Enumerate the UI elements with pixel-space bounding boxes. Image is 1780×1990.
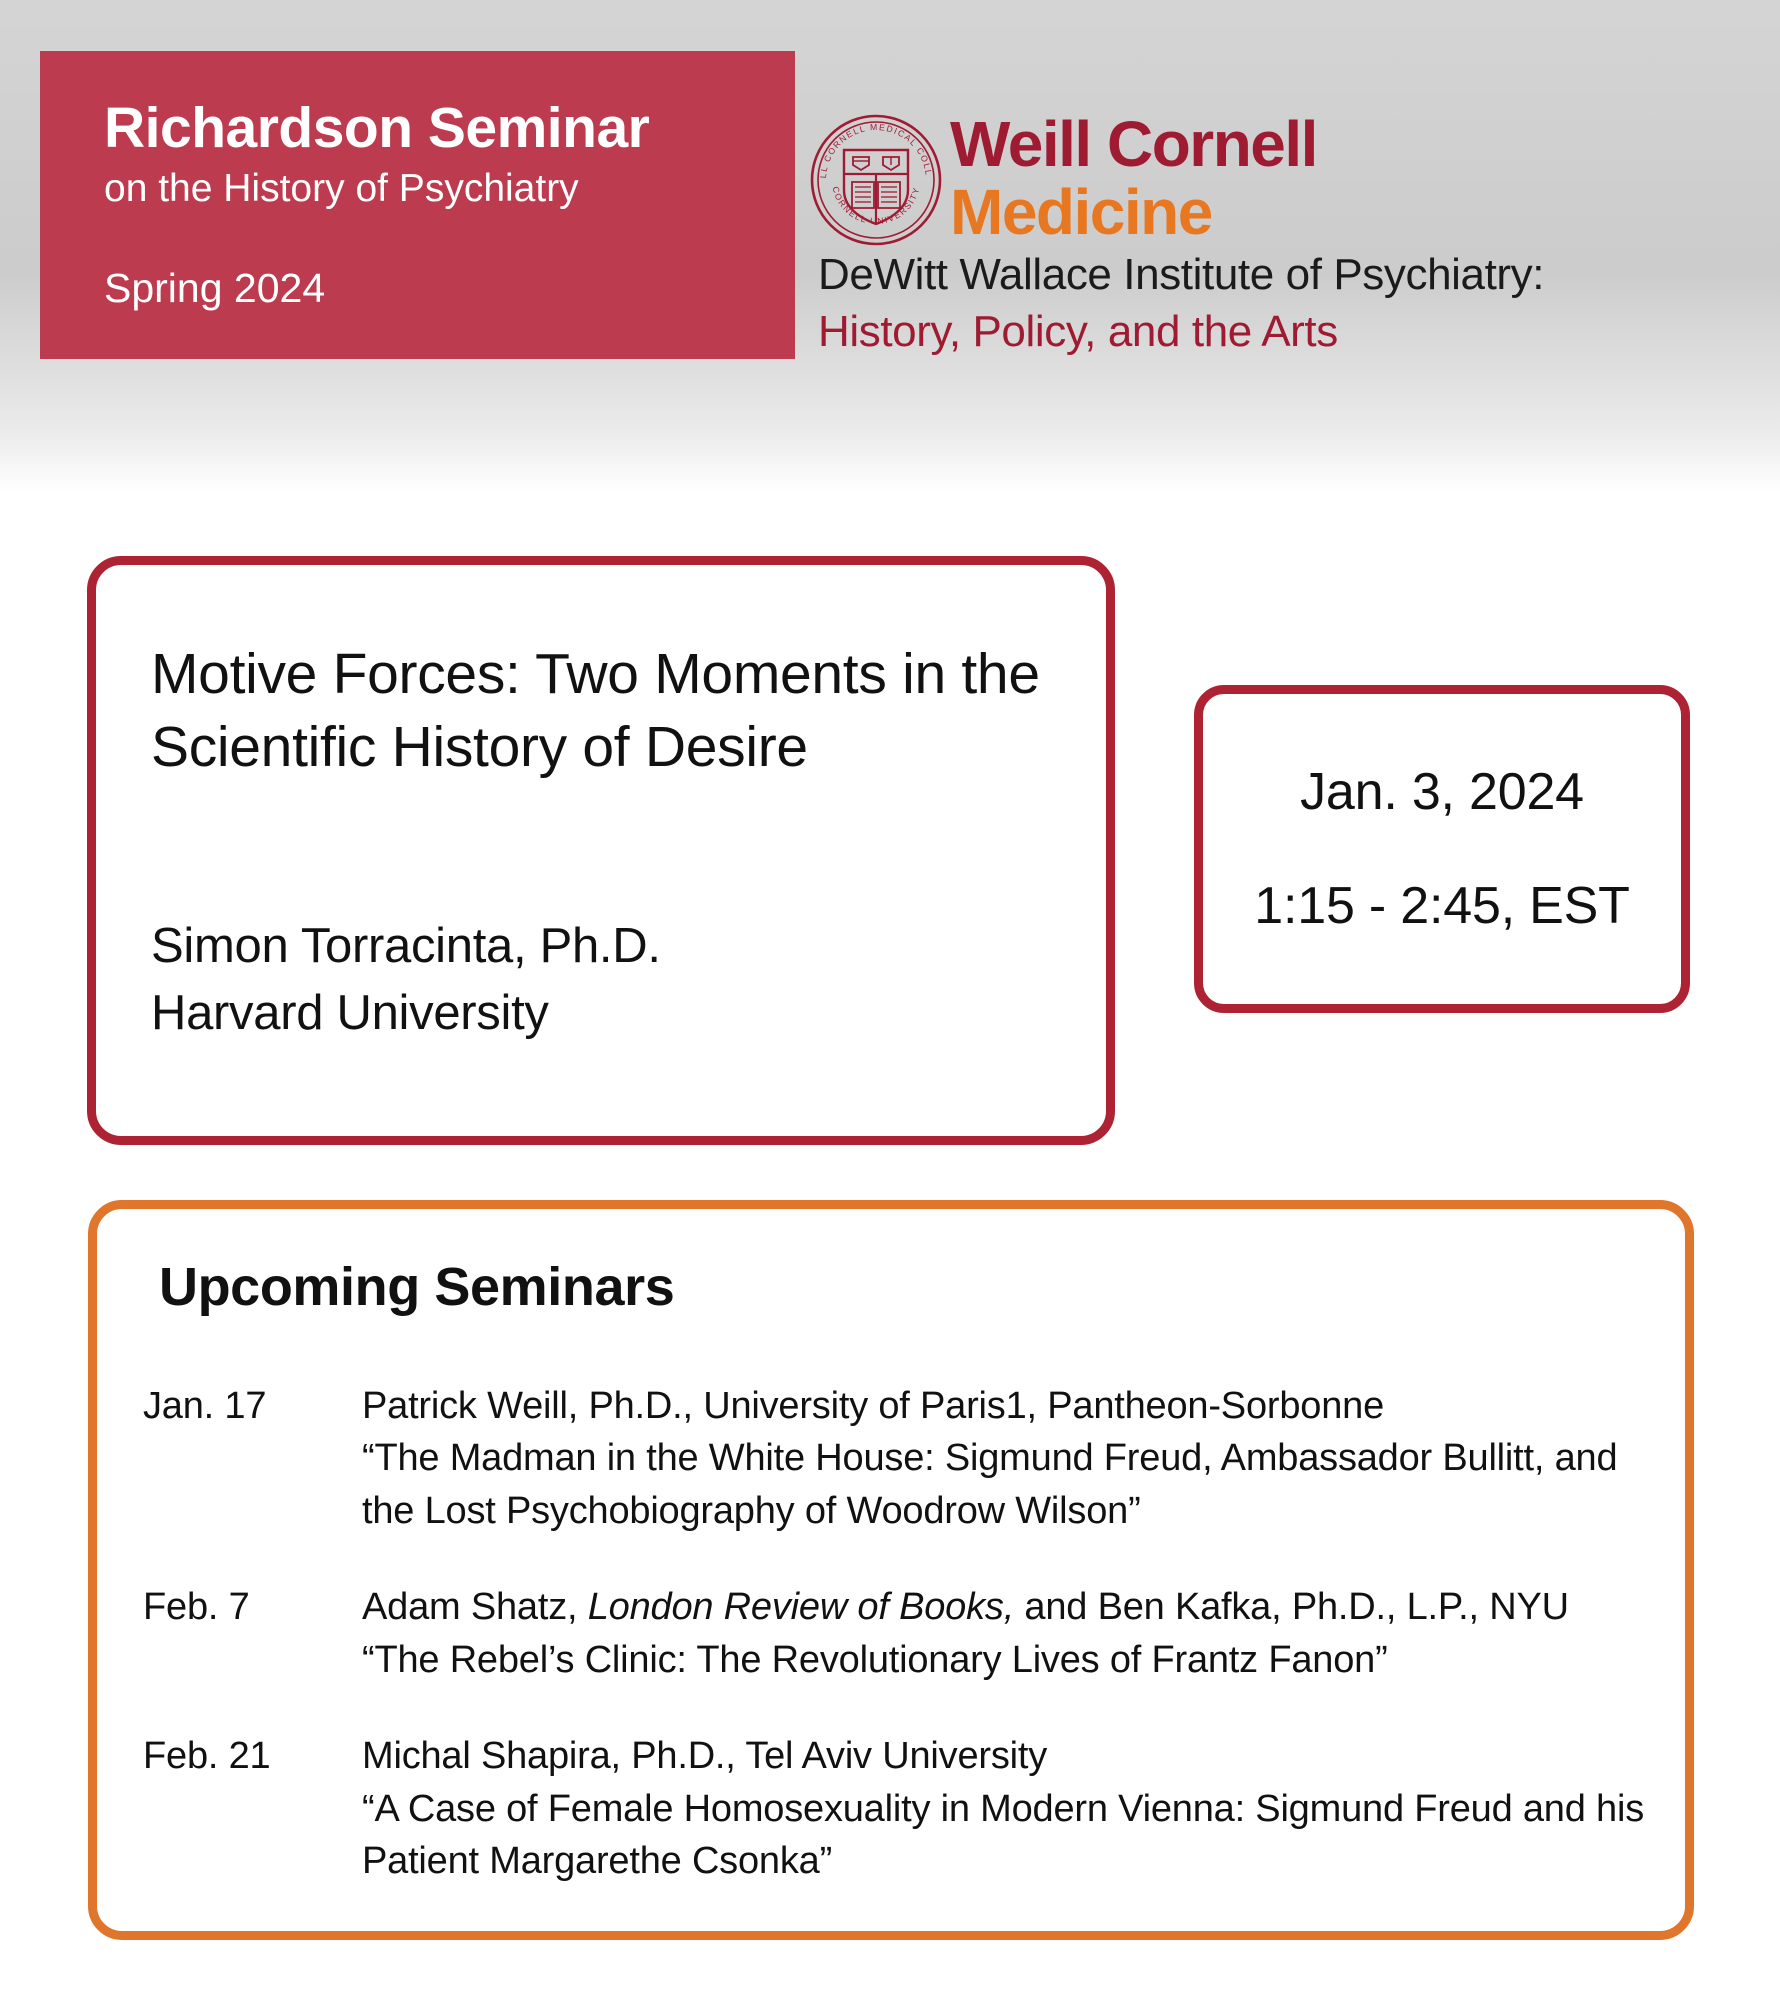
brand-medicine: Medicine bbox=[950, 180, 1317, 244]
seminar-series-card: Richardson Seminar on the History of Psy… bbox=[40, 51, 795, 359]
seminar-presenter-pre: Michal Shapira, Ph.D., Tel Aviv Universi… bbox=[362, 1735, 1047, 1777]
upcoming-seminars-list: Jan. 17Patrick Weill, Ph.D., University … bbox=[143, 1380, 1661, 1888]
seminar-date: Feb. 21 bbox=[143, 1730, 362, 1782]
seminar-date: Jan. 17 bbox=[143, 1380, 362, 1432]
seminar-details: Patrick Weill, Ph.D., University of Pari… bbox=[362, 1380, 1661, 1537]
upcoming-seminars-heading: Upcoming Seminars bbox=[159, 1256, 674, 1318]
seminar-presenter-pre: Adam Shatz, bbox=[362, 1586, 588, 1628]
weill-cornell-medicine-wordmark: Weill Cornell Medicine bbox=[950, 112, 1317, 244]
talk-speaker-name: Simon Torracinta, Ph.D. bbox=[151, 913, 661, 980]
seminar-list-item: Jan. 17Patrick Weill, Ph.D., University … bbox=[143, 1380, 1661, 1537]
seminar-list-item: Feb. 21Michal Shapira, Ph.D., Tel Aviv U… bbox=[143, 1730, 1661, 1887]
header-banner: Richardson Seminar on the History of Psy… bbox=[0, 0, 1780, 492]
seminar-talk-title: “The Rebel’s Clinic: The Revolutionary L… bbox=[362, 1634, 1661, 1686]
series-subtitle: on the History of Psychiatry bbox=[104, 167, 579, 211]
seminar-presenter-publication: London Review of Books, bbox=[588, 1586, 1014, 1628]
talk-time: 1:15 - 2:45, EST bbox=[1254, 876, 1629, 936]
talk-date: Jan. 3, 2024 bbox=[1300, 762, 1584, 822]
seminar-date: Feb. 7 bbox=[143, 1581, 362, 1633]
talk-speaker-affiliation: Harvard University bbox=[151, 980, 661, 1047]
seminar-list-item: Feb. 7Adam Shatz, London Review of Books… bbox=[143, 1581, 1661, 1686]
seminar-presenter: Adam Shatz, London Review of Books, and … bbox=[362, 1581, 1661, 1633]
talk-title: Motive Forces: Two Moments in the Scient… bbox=[151, 638, 1061, 784]
seminar-talk-title: “A Case of Female Homosexuality in Moder… bbox=[362, 1783, 1661, 1888]
cornell-seal-icon: WEILL CORNELL MEDICAL COLLEGE CORNELL UN… bbox=[808, 112, 944, 248]
seminar-details: Michal Shapira, Ph.D., Tel Aviv Universi… bbox=[362, 1730, 1661, 1887]
institute-tagline: History, Policy, and the Arts bbox=[818, 307, 1338, 357]
talk-speaker-block: Simon Torracinta, Ph.D. Harvard Universi… bbox=[151, 913, 661, 1046]
series-title: Richardson Seminar bbox=[104, 95, 649, 161]
talk-datetime-card: Jan. 3, 2024 1:15 - 2:45, EST bbox=[1194, 685, 1690, 1013]
seminar-presenter-pre: Patrick Weill, Ph.D., University of Pari… bbox=[362, 1385, 1384, 1427]
seminar-presenter: Patrick Weill, Ph.D., University of Pari… bbox=[362, 1380, 1661, 1432]
upcoming-seminars-card: Upcoming Seminars Jan. 17Patrick Weill, … bbox=[88, 1200, 1694, 1940]
seminar-talk-title: “The Madman in the White House: Sigmund … bbox=[362, 1432, 1661, 1537]
seminar-details: Adam Shatz, London Review of Books, and … bbox=[362, 1581, 1661, 1686]
seminar-presenter-post: and Ben Kafka, Ph.D., L.P., NYU bbox=[1014, 1586, 1569, 1628]
seminar-presenter: Michal Shapira, Ph.D., Tel Aviv Universi… bbox=[362, 1730, 1661, 1782]
series-term: Spring 2024 bbox=[104, 265, 325, 312]
featured-talk-card: Motive Forces: Two Moments in the Scient… bbox=[87, 556, 1115, 1145]
brand-weill-cornell: Weill Cornell bbox=[950, 112, 1317, 176]
institute-name: DeWitt Wallace Institute of Psychiatry: bbox=[818, 250, 1544, 300]
